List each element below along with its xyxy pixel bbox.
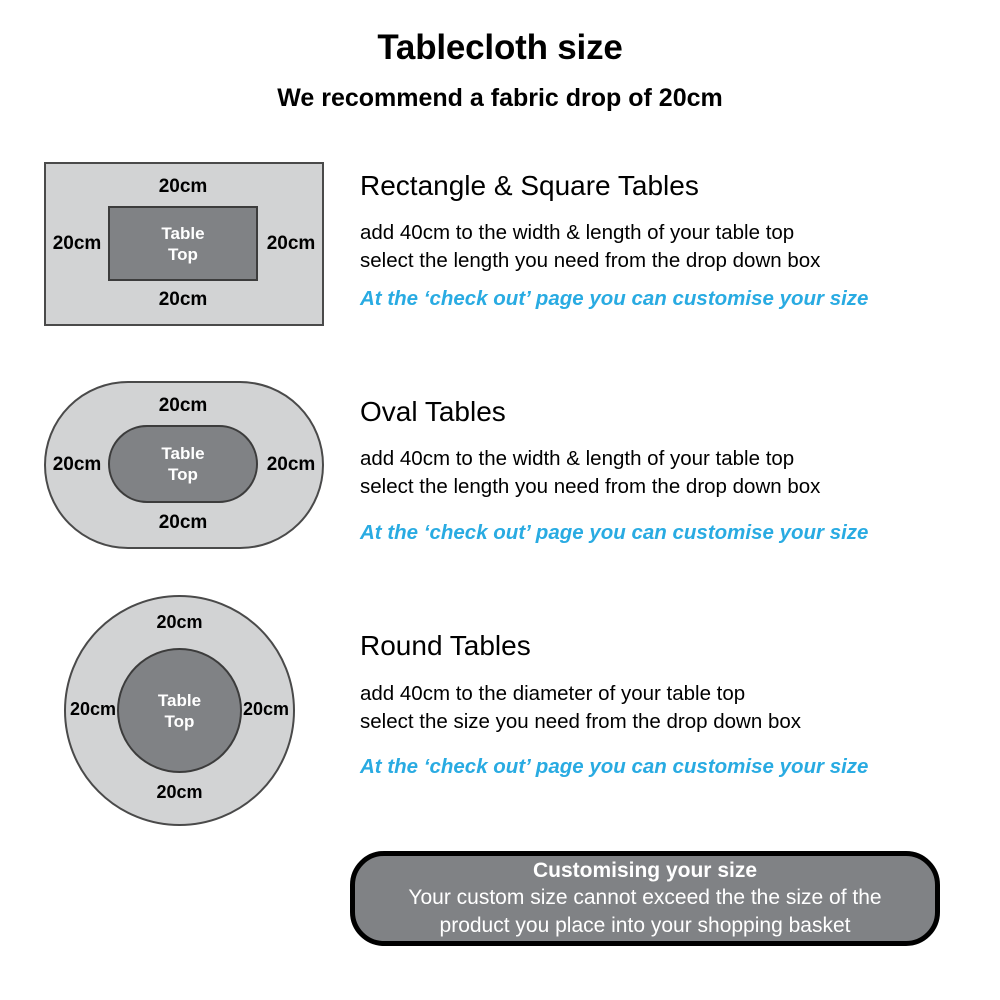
section-body-round-line2: select the size you need from the drop d… bbox=[360, 708, 801, 735]
rectangle-drop-label-left: 20cm bbox=[46, 233, 108, 255]
section-heading-rectangle: Rectangle & Square Tables bbox=[360, 170, 699, 202]
rectangle-drop-label-right: 20cm bbox=[260, 233, 322, 255]
rectangle-table-top-label-line1: Table bbox=[161, 223, 204, 244]
rectangle-drop-label-top: 20cm bbox=[108, 176, 258, 198]
round-table-top: Table Top bbox=[117, 648, 242, 773]
round-drop-label-bottom: 20cm bbox=[117, 782, 242, 803]
oval-diagram: Table Top 20cm 20cm 20cm 20cm bbox=[44, 381, 324, 549]
round-drop-label-right: 20cm bbox=[236, 699, 296, 720]
rectangle-drop-label-bottom: 20cm bbox=[108, 289, 258, 311]
oval-drop-label-bottom: 20cm bbox=[108, 512, 258, 534]
rectangle-diagram: Table Top 20cm 20cm 20cm 20cm bbox=[44, 162, 324, 326]
oval-drop-label-left: 20cm bbox=[46, 454, 108, 476]
section-note-round: At the ‘check out’ page you can customis… bbox=[360, 755, 868, 779]
page-title: Tablecloth size bbox=[0, 28, 1000, 68]
oval-table-top-label-line2: Top bbox=[168, 464, 198, 485]
round-diagram: Table Top 20cm 20cm 20cm 20cm bbox=[64, 595, 295, 826]
round-table-top-label-line1: Table bbox=[158, 690, 201, 711]
section-note-rectangle: At the ‘check out’ page you can customis… bbox=[360, 287, 868, 311]
section-body-oval-line1: add 40cm to the width & length of your t… bbox=[360, 445, 794, 472]
custom-box-title: Customising your size bbox=[533, 858, 757, 884]
section-note-oval: At the ‘check out’ page you can customis… bbox=[360, 521, 868, 545]
section-body-round-line1: add 40cm to the diameter of your table t… bbox=[360, 680, 745, 707]
oval-table-top: Table Top bbox=[108, 425, 258, 503]
oval-drop-label-right: 20cm bbox=[260, 454, 322, 476]
section-body-rectangle-line2: select the length you need from the drop… bbox=[360, 247, 820, 274]
round-drop-label-left: 20cm bbox=[63, 699, 123, 720]
section-heading-round: Round Tables bbox=[360, 630, 531, 662]
rectangle-table-top-label-line2: Top bbox=[168, 244, 198, 265]
section-heading-oval: Oval Tables bbox=[360, 396, 506, 428]
round-table-top-label-line2: Top bbox=[165, 711, 195, 732]
rectangle-table-top: Table Top bbox=[108, 206, 258, 281]
round-drop-label-top: 20cm bbox=[117, 612, 242, 633]
oval-table-top-label-line1: Table bbox=[161, 443, 204, 464]
custom-box-line2: product you place into your shopping bas… bbox=[440, 912, 851, 940]
customising-your-size-callout: Customising your size Your custom size c… bbox=[350, 851, 940, 946]
oval-drop-label-top: 20cm bbox=[108, 395, 258, 417]
custom-box-line1: Your custom size cannot exceed the the s… bbox=[408, 884, 881, 912]
section-body-oval-line2: select the length you need from the drop… bbox=[360, 473, 820, 500]
page-subtitle: We recommend a fabric drop of 20cm bbox=[0, 84, 1000, 113]
section-body-rectangle-line1: add 40cm to the width & length of your t… bbox=[360, 219, 794, 246]
